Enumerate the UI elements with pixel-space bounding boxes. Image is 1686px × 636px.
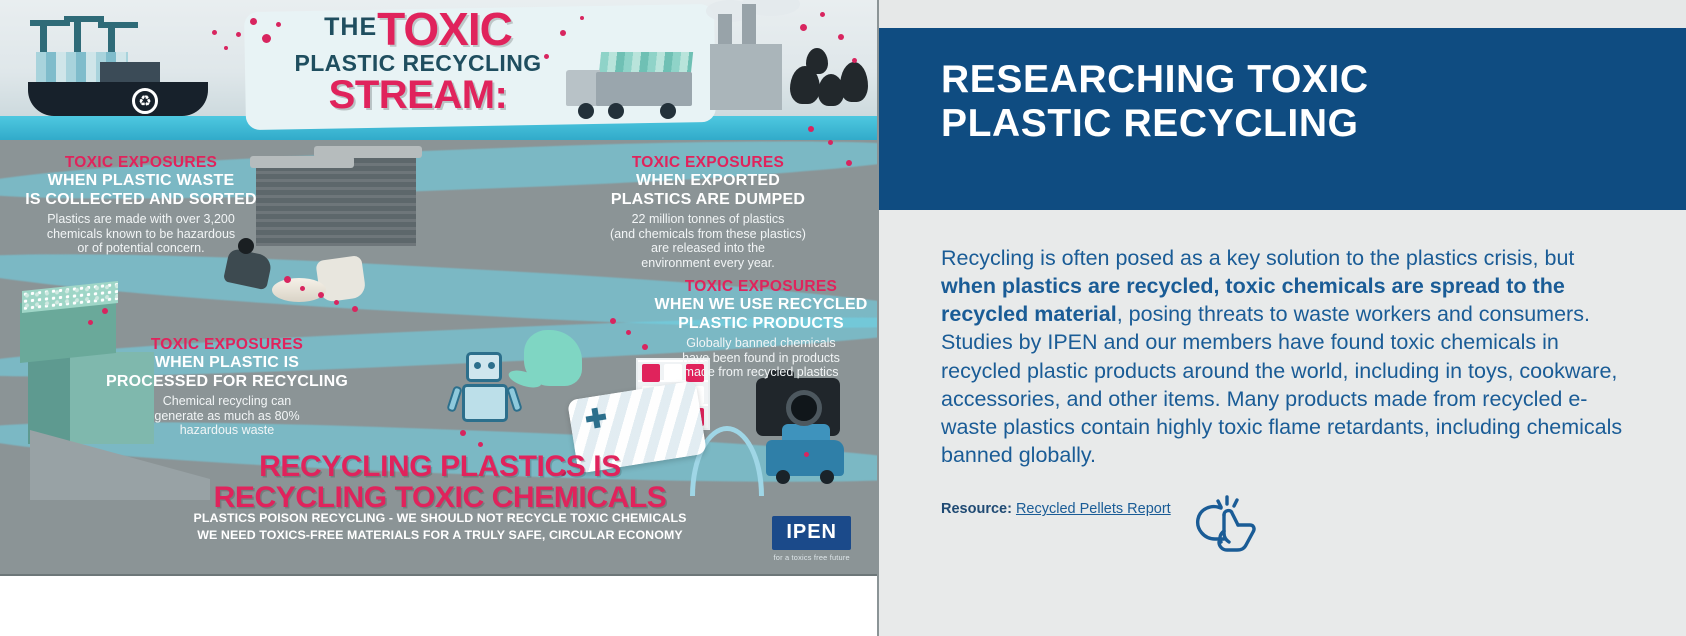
caption-toxic-label: TOXIC EXPOSURES (566, 154, 850, 172)
paragraph-part1: Recycling is often posed as a key soluti… (941, 246, 1574, 270)
toy-car-wheel (776, 470, 790, 484)
waste-bag (790, 66, 820, 104)
chemical-speck (838, 34, 844, 40)
toy-car-wheel (820, 470, 834, 484)
panel-title-band: RESEARCHING TOXIC PLASTIC RECYCLING (877, 28, 1686, 210)
infographic-slogan: RECYCLING PLASTICS IS RECYCLING TOXIC CH… (150, 452, 730, 514)
caption-toxic-label: TOXIC EXPOSURES (16, 154, 266, 172)
panel-paragraph: Recycling is often posed as a key soluti… (941, 244, 1626, 469)
caption-toxic-label: TOXIC EXPOSURES (96, 336, 358, 354)
recycling-plant-shadow (28, 352, 70, 444)
subslogan-line1: PLASTICS POISON RECYCLING - WE SHOULD NO… (150, 510, 730, 527)
recycle-symbol-icon: ♻ (132, 88, 158, 114)
caption-heading: WHEN PLASTIC WASTE IS COLLECTED AND SORT… (16, 172, 266, 209)
truck-wheel (660, 103, 676, 119)
chemical-speck (478, 442, 483, 447)
chemical-speck (250, 18, 257, 25)
waste-bag (840, 62, 868, 102)
headline-line3: STREAM: (268, 73, 568, 118)
chemical-speck (828, 140, 833, 145)
subslogan-line2: WE NEED TOXICS-FREE MATERIALS FOR A TRUL… (150, 527, 730, 544)
caption-body: Plastics are made with over 3,200 chemic… (16, 212, 266, 256)
toy-robot-eye (474, 362, 481, 369)
caption-collected-sorted: TOXIC EXPOSURES WHEN PLASTIC WASTE IS CO… (16, 154, 266, 256)
headline-toxic: TOXIC (377, 3, 512, 55)
chemical-speck (88, 320, 93, 325)
caption-exported-dumped: TOXIC EXPOSURES WHEN EXPORTED PLASTICS A… (566, 154, 850, 271)
resource-line: Resource: Recycled Pellets Report (941, 495, 1171, 517)
caption-body: Chemical recycling can generate as much … (96, 394, 358, 438)
recycled-pellets-report-link[interactable]: Recycled Pellets Report (1016, 501, 1171, 517)
ship-deck (100, 62, 160, 84)
hut-roof (314, 146, 422, 158)
chemical-speck (334, 300, 339, 305)
infographic-subslogan: PLASTICS POISON RECYCLING - WE SHOULD NO… (150, 510, 730, 543)
ipen-logo-name: IPEN (772, 516, 851, 550)
right-content-panel: RESEARCHING TOXIC PLASTIC RECYCLING Recy… (877, 0, 1686, 636)
chemical-speck (300, 286, 305, 291)
chemical-speck (236, 32, 241, 37)
chemical-speck (626, 330, 631, 335)
caption-toxic-label: TOXIC EXPOSURES (646, 278, 876, 296)
caption-body: 22 million tonnes of plastics (and chemi… (566, 212, 850, 271)
cargo-ship-icon (28, 82, 208, 116)
caption-heading: WHEN EXPORTED PLASTICS ARE DUMPED (566, 172, 850, 209)
chemical-speck (804, 452, 809, 457)
chemical-speck (460, 430, 466, 436)
crane-arm-icon (98, 22, 138, 28)
hut-structure (320, 158, 416, 246)
truck-wheel (608, 103, 624, 119)
chemical-speck (544, 54, 549, 59)
truck-wheel (578, 103, 594, 119)
infographic-headline: THETOXIC PLASTIC RECYCLING STREAM: (268, 6, 568, 118)
panel-divider (877, 0, 879, 636)
panel-body: Recycling is often posed as a key soluti… (877, 210, 1686, 558)
caption-processed-for-recycling: TOXIC EXPOSURES WHEN PLASTIC IS PROCESSE… (96, 336, 358, 438)
tap-hand-icon (1191, 495, 1257, 558)
chemical-speck (800, 24, 807, 31)
toy-robot-eye (488, 362, 495, 369)
headline-the: THE (324, 13, 377, 41)
chemical-speck (224, 46, 228, 50)
chemical-speck (318, 292, 324, 298)
chemical-speck (262, 34, 271, 43)
chemical-speck (284, 276, 291, 283)
caption-use-recycled-products: TOXIC EXPOSURES WHEN WE USE RECYCLED PLA… (646, 278, 876, 380)
toxic-plastic-recycling-infographic: ♻ (0, 0, 877, 576)
page-title-line2: PLASTIC RECYCLING (941, 102, 1686, 146)
ipen-logo-tagline: for a toxics free future (772, 553, 851, 562)
chemical-speck (820, 12, 825, 17)
truck-load (599, 52, 693, 74)
dump-truck-icon (596, 72, 692, 106)
panel-top-gap (877, 0, 1686, 28)
factory-icon (710, 44, 782, 110)
caption-heading: WHEN PLASTIC IS PROCESSED FOR RECYCLING (96, 354, 358, 391)
chemical-speck (212, 30, 217, 35)
chemical-speck (852, 58, 857, 63)
resource-row: Resource: Recycled Pellets Report (941, 495, 1626, 558)
smokestack-icon (718, 14, 732, 46)
camera-lens (786, 390, 822, 426)
caption-heading: WHEN WE USE RECYCLED PLASTIC PRODUCTS (646, 296, 876, 333)
burning-waste (272, 278, 326, 302)
resource-label: Resource: (941, 501, 1012, 517)
caption-body: Globally banned chemicals have been foun… (646, 336, 876, 380)
chemical-speck (808, 126, 814, 132)
ipen-logo: IPEN for a toxics free future (772, 516, 851, 562)
console-dpad (585, 407, 608, 430)
chemical-speck (610, 318, 616, 324)
paragraph-part2: , posing threats to waste workers and co… (941, 302, 1622, 467)
chemical-speck (276, 22, 281, 27)
smokestack-icon (742, 4, 756, 46)
truck-cab (566, 70, 600, 106)
toy-robot-icon (466, 352, 502, 382)
toy-robot-body (462, 384, 508, 422)
chemical-speck (352, 306, 358, 312)
screenshot-root: ♻ (0, 0, 1686, 636)
chemical-speck (580, 16, 584, 20)
slogan-line1: RECYCLING PLASTICS IS (150, 452, 730, 483)
page-title-line1: RESEARCHING TOXIC (941, 58, 1686, 102)
chemical-speck (102, 308, 108, 314)
chemical-speck (560, 30, 566, 36)
